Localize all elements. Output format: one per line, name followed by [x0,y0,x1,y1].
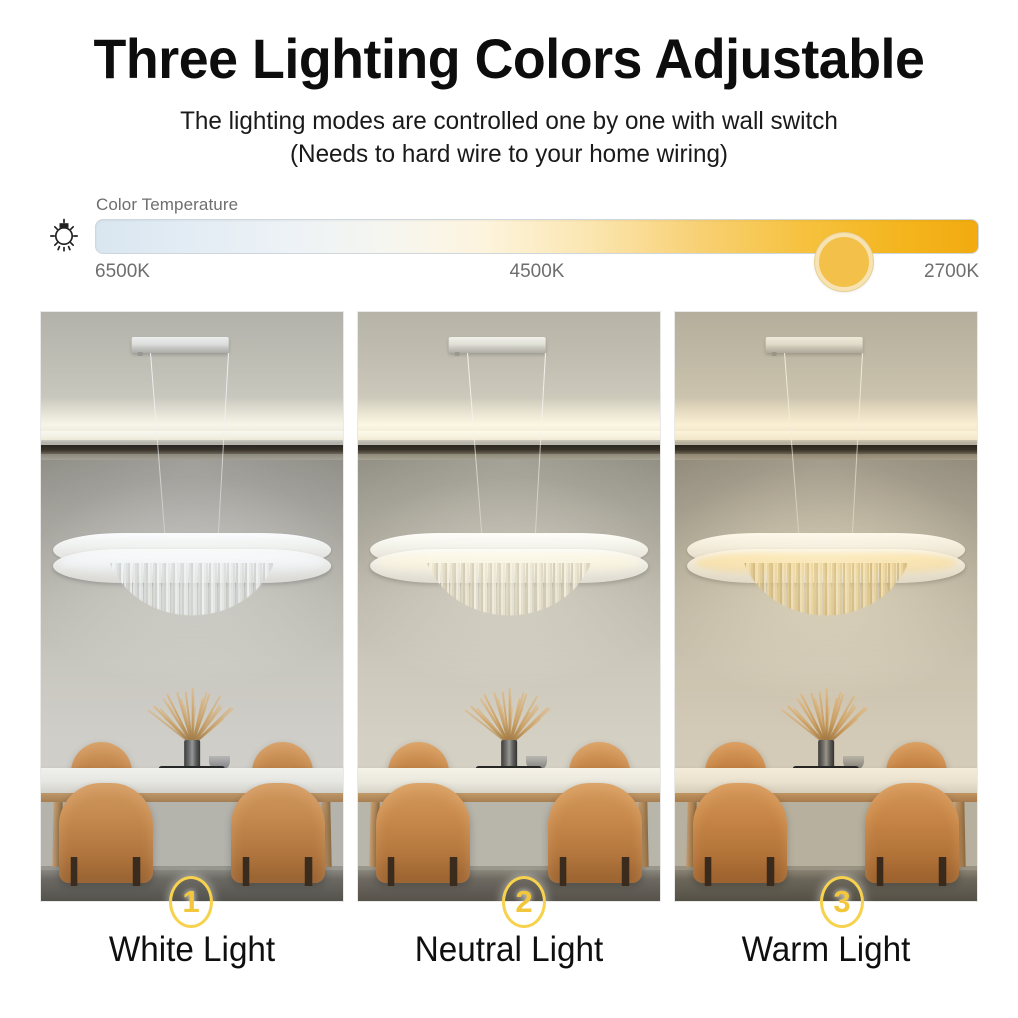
dried-pampas-grass [483,668,534,745]
color-temperature-slider[interactable]: Color Temperature 6500K 4500 [39,195,979,291]
mode-badge-2: 2 [502,876,546,928]
chair-legs-right [548,857,642,886]
tick-label-4500k: 4500K [510,261,565,283]
chair-legs-left [376,857,470,886]
lighting-panel-warm[interactable] [674,311,978,902]
chair-legs-right [231,857,325,886]
ceiling-mount-bar [449,337,546,352]
pendant-chandelier [53,533,331,674]
chandelier-fringe [376,563,643,651]
dried-pampas-grass [800,668,851,745]
caption-white-light: White Light [48,930,337,970]
dried-pampas-grass [166,668,217,745]
ceiling-band [358,445,660,454]
ceiling-band [41,445,343,454]
chair-legs-right [865,857,959,886]
mode-captions: White Light Neutral Light Warm Light [40,930,978,970]
mode-badge-3: 3 [820,876,864,928]
chair-legs-left [59,857,153,886]
chandelier-fringe [59,563,326,651]
subtitle-block: The lighting modes are controlled one by… [0,105,1018,171]
cove-light-strip [41,431,343,440]
caption-neutral-light: Neutral Light [365,930,654,970]
mode-badge-1: 1 [169,876,213,928]
tick-label-6500k: 6500K [95,261,150,283]
pendant-chandelier [370,533,648,674]
lighting-panel-white[interactable] [40,311,344,902]
subtitle-line-2: (Needs to hard wire to your home wiring) [15,138,1002,171]
page-title: Three Lighting Colors Adjustable [20,30,997,89]
light-bulb-icon [39,211,89,261]
subtitle-line-1: The lighting modes are controlled one by… [15,105,1002,138]
lighting-mode-panels [40,311,978,902]
ceiling-band [675,445,977,454]
chandelier-fringe [693,563,960,651]
room-scene [675,312,977,901]
slider-track[interactable] [95,219,979,254]
pendant-chandelier [687,533,965,674]
color-temperature-label: Color Temperature [96,195,238,215]
lighting-panel-neutral[interactable] [357,311,661,902]
cove-light-strip [675,431,977,440]
chair-legs-left [693,857,787,886]
room-scene [358,312,660,901]
tick-label-2700k: 2700K [924,261,979,283]
ceiling-mount-bar [766,337,863,352]
slider-tick-labels: 6500K 4500K 2700K [95,261,979,285]
ceiling-mount-bar [132,337,229,352]
header: Three Lighting Colors Adjustable The lig… [0,0,1018,171]
room-scene [41,312,343,901]
cove-light-strip [358,431,660,440]
caption-warm-light: Warm Light [682,930,971,970]
